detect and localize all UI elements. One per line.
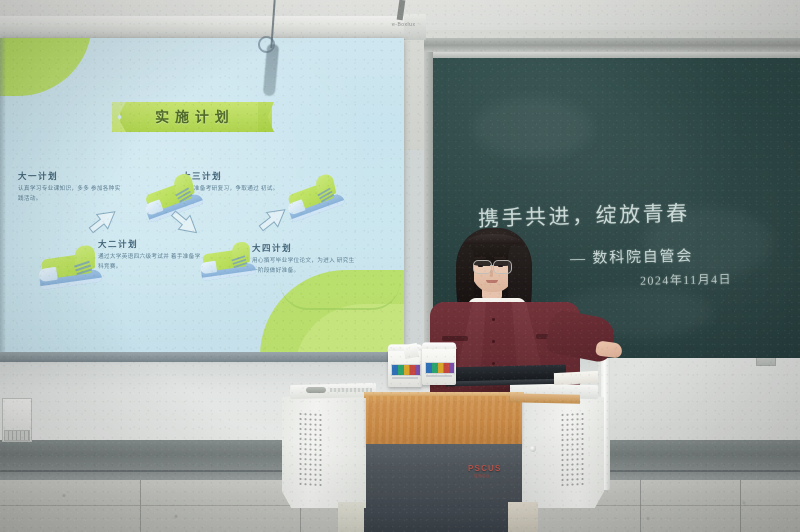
lectern-wing-left [282, 390, 374, 508]
slide-title: 实施计划 [112, 102, 272, 132]
shoe-illustration-icon [36, 242, 103, 290]
speaker-grille-right [560, 411, 586, 486]
jacket-button [492, 362, 495, 365]
eye-left [478, 265, 483, 267]
tissue-box[interactable] [422, 347, 456, 385]
lectern: PSCUS 智慧讲台 [282, 378, 604, 532]
lectern-vent [306, 387, 326, 393]
lectern-desk-surface [366, 396, 522, 446]
tissue-box-flap [403, 343, 419, 359]
mouth [486, 280, 498, 283]
screen-left-shading [0, 38, 6, 356]
slide-plan-block-sophomore: 大二计划 通过大学英语四六级考试并 着手准备学科竞赛。 [98, 238, 202, 273]
tissue-box-stripe [426, 375, 452, 377]
speaker-grille-left [298, 411, 324, 486]
floor-grout-line [640, 480, 641, 532]
wall-outlet-sockets[interactable] [4, 430, 30, 441]
tissue-box-label [425, 362, 455, 374]
tissue-box-top [421, 342, 456, 348]
tissue-box-label [391, 364, 421, 376]
tissue-box-stripe [392, 377, 418, 379]
shoe-illustration-icon [198, 239, 257, 281]
slide-decoration-wave [280, 282, 400, 310]
lectern-wing-right [512, 390, 604, 508]
chalk-smudge [473, 98, 593, 158]
blackboard-date: 2024年11月4日 [640, 270, 732, 289]
jacket-button [492, 318, 495, 321]
floor-grout-line [140, 480, 141, 532]
screen-roller-brand-label: e-Boxlux [392, 22, 415, 28]
plan-heading: 大二计划 [98, 238, 202, 250]
eyeglasses-bridge [490, 265, 494, 266]
lectern-base-left [338, 502, 366, 532]
jacket-button [492, 340, 495, 343]
plan-body: 认真学习专业课知识，多多 参加各种实践活动。 [18, 185, 122, 205]
classroom-photo-scene: 携手共进，绽放青春 — 数科院自管会 2024年11月4日 e-Boxlux 实… [0, 0, 800, 532]
lectern-desk-right-ledge [510, 393, 580, 403]
lectern-knob[interactable] [530, 446, 536, 452]
projection-screen-roller[interactable] [0, 16, 424, 40]
plan-body: 通过大学英语四六级考试并 着手准备学科竞赛。 [98, 253, 202, 273]
lectern-base [364, 508, 508, 532]
jacket-pocket-left [442, 336, 468, 341]
lectern-base-right [508, 502, 538, 532]
plan-body: 用心撰写毕业学位论文，为进入 研究生一阶段做好准备。 [252, 257, 356, 277]
nose [490, 270, 493, 277]
plan-heading: 大一计划 [18, 170, 122, 182]
lectern-brand-logo: PSCUS [468, 464, 502, 473]
eyeglasses-lens-right [493, 260, 512, 274]
plan-heading: 大四计划 [252, 242, 356, 254]
lectern-front-panel [366, 444, 522, 510]
eye-right [498, 265, 503, 267]
lectern-brand-sublabel: 智慧讲台 [474, 473, 490, 478]
floor-grout-line [740, 480, 741, 532]
plan-heading: 大三计划 [182, 170, 279, 182]
slide-plan-block-freshman: 大一计划 认真学习专业课知识，多多 参加各种实践活动。 [18, 170, 122, 205]
slide-decoration-top-left [0, 38, 92, 96]
slide-plan-block-senior: 大四计划 用心撰写毕业学位论文，为进入 研究生一阶段做好准备。 [252, 242, 356, 277]
screen-bottom-bar [0, 352, 408, 362]
paper-sheet [554, 371, 598, 385]
